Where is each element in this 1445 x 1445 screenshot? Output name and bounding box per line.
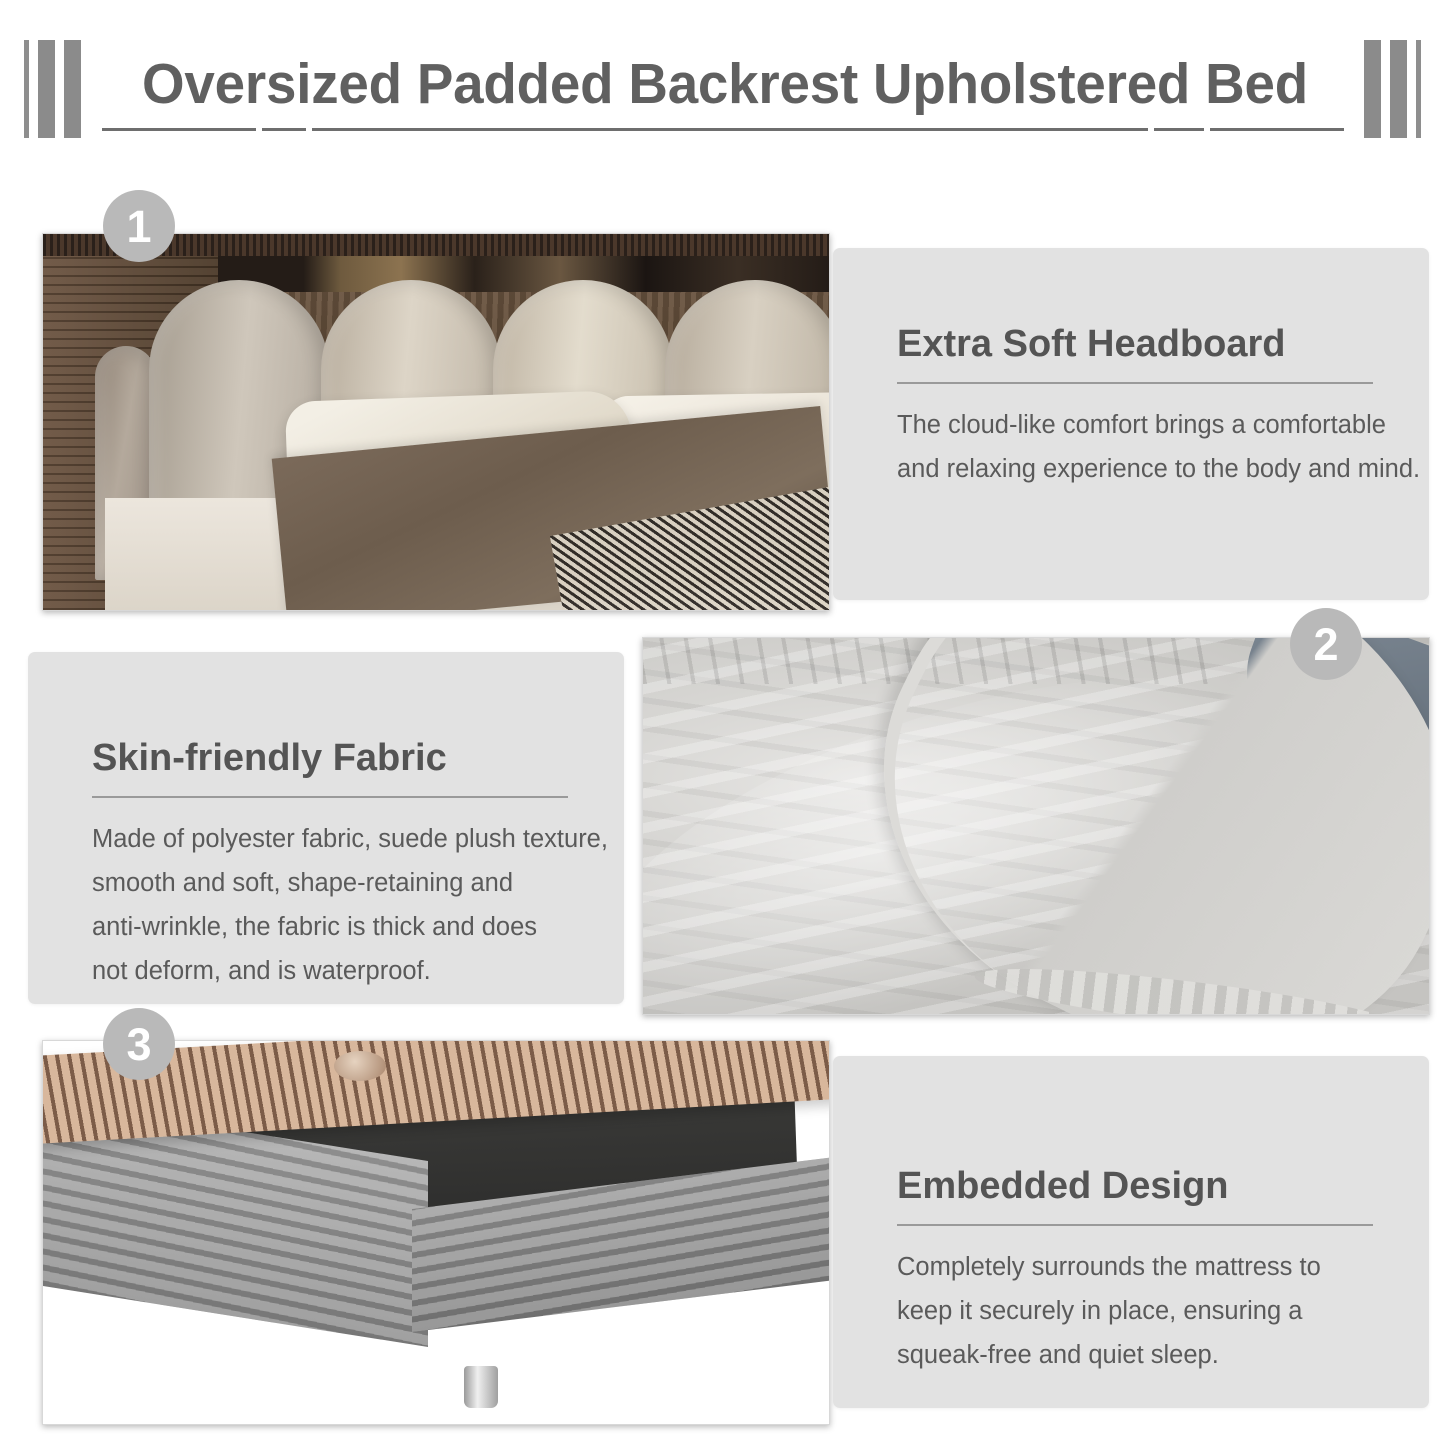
- step-badge-2: 2: [1290, 608, 1362, 680]
- header-divider: [102, 128, 1344, 131]
- page-header: Oversized Padded Backrest Upholstered Be…: [0, 0, 1445, 160]
- step-badge-3: 3: [103, 1008, 175, 1080]
- feature-title-underline-2: [92, 796, 568, 798]
- feature-title-underline-3: [897, 1224, 1373, 1226]
- feature-panel-1: Extra Soft Headboard The cloud-like comf…: [833, 248, 1429, 600]
- decor-bar-thick-left-2: [64, 40, 81, 138]
- feature-photo-2: [642, 637, 1430, 1015]
- divider-segment: [102, 128, 256, 131]
- feature-body-1: The cloud-like comfort brings a comforta…: [897, 404, 1373, 492]
- feature-body-line: squeak-free and quiet sleep.: [897, 1334, 1373, 1378]
- feature-body-line: Completely surrounds the mattress to: [897, 1246, 1373, 1290]
- feature-body-line: anti-wrinkle, the fabric is thick and do…: [92, 906, 568, 950]
- feature-title-underline-1: [897, 382, 1373, 384]
- step-badge-1: 1: [103, 190, 175, 262]
- header-decor-right: [1364, 40, 1421, 138]
- decor-bar-thin-left: [24, 40, 29, 138]
- feature-panel-3: Embedded Design Completely surrounds the…: [833, 1056, 1429, 1408]
- feature-title-1: Extra Soft Headboard: [897, 324, 1373, 364]
- step-badge-3-label: 3: [126, 1022, 151, 1067]
- decor-bar-thick-right-1: [1364, 40, 1381, 138]
- feature-photo-3: [42, 1040, 830, 1425]
- feature-body-line: smooth and soft, shape-retaining and: [92, 862, 568, 906]
- slat-lift-handle: [334, 1051, 386, 1081]
- divider-segment: [262, 128, 306, 131]
- divider-segment: [1210, 128, 1344, 131]
- divider-segment: [312, 128, 1148, 131]
- feature-photo-1: [42, 233, 830, 611]
- decor-bar-thin-right: [1416, 40, 1421, 138]
- decor-bar-thick-left-1: [38, 40, 55, 138]
- feature-body-2: Made of polyester fabric, suede plush te…: [92, 818, 568, 993]
- feature-body-3: Completely surrounds the mattress to kee…: [897, 1246, 1373, 1378]
- feature-title-2: Skin-friendly Fabric: [92, 738, 568, 778]
- page-title: Oversized Padded Backrest Upholstered Be…: [130, 40, 1320, 128]
- feature-body-line: keep it securely in place, ensuring a: [897, 1290, 1373, 1334]
- header-decor-left: [24, 40, 81, 138]
- feature-body-line: not deform, and is waterproof.: [92, 950, 568, 994]
- feature-title-3: Embedded Design: [897, 1166, 1373, 1206]
- feature-body-line: The cloud-like comfort brings a comforta…: [897, 404, 1373, 448]
- step-badge-1-label: 1: [126, 204, 151, 249]
- decor-bar-thick-right-2: [1390, 40, 1407, 138]
- step-badge-2-label: 2: [1313, 622, 1338, 667]
- feature-body-line: and relaxing experience to the body and …: [897, 448, 1373, 492]
- feature-body-line: Made of polyester fabric, suede plush te…: [92, 818, 568, 862]
- feature-panel-2: Skin-friendly Fabric Made of polyester f…: [28, 652, 624, 1004]
- chrome-bed-leg: [464, 1366, 498, 1408]
- divider-segment: [1154, 128, 1204, 131]
